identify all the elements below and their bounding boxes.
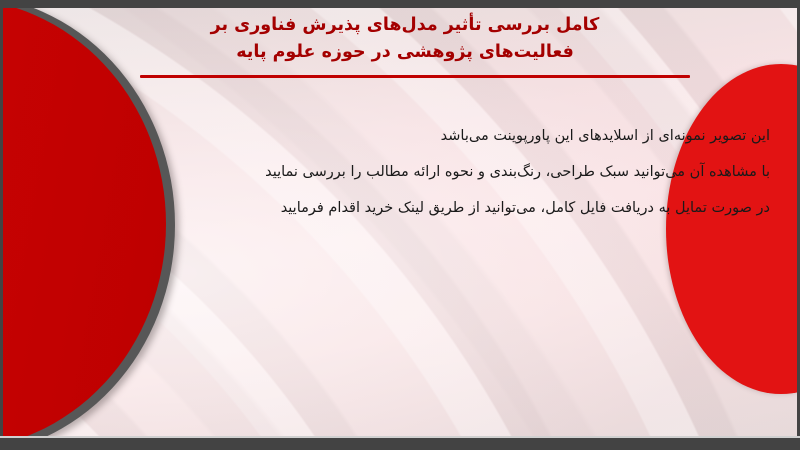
- body-line-1: این تصویر نمونه‌ای از اسلایدهای این پاور…: [40, 118, 770, 154]
- frame-border-bottom: [0, 438, 800, 450]
- body-line-2: با مشاهده آن می‌توانید سبک طراحی، رنگ‌بن…: [40, 154, 770, 190]
- slide-title-line-1: کامل بررسی تأثیر مدل‌های پذیرش فناوری بر: [110, 12, 700, 39]
- body-line-3: در صورت تمایل به دریافت فایل کامل، می‌تو…: [40, 190, 770, 226]
- frame-hairline-bottom: [0, 436, 800, 438]
- slide-title: کامل بررسی تأثیر مدل‌های پذیرش فناوری بر…: [110, 12, 700, 66]
- slide-body-text: این تصویر نمونه‌ای از اسلایدهای این پاور…: [40, 118, 770, 226]
- title-underline-rule: [140, 75, 690, 78]
- presentation-slide: کامل بررسی تأثیر مدل‌های پذیرش فناوری بر…: [0, 0, 800, 450]
- slide-title-line-2: فعالیت‌های پژوهشی در حوزه علوم پایه: [110, 39, 700, 66]
- frame-border-top: [0, 0, 800, 8]
- frame-border-left: [0, 0, 3, 450]
